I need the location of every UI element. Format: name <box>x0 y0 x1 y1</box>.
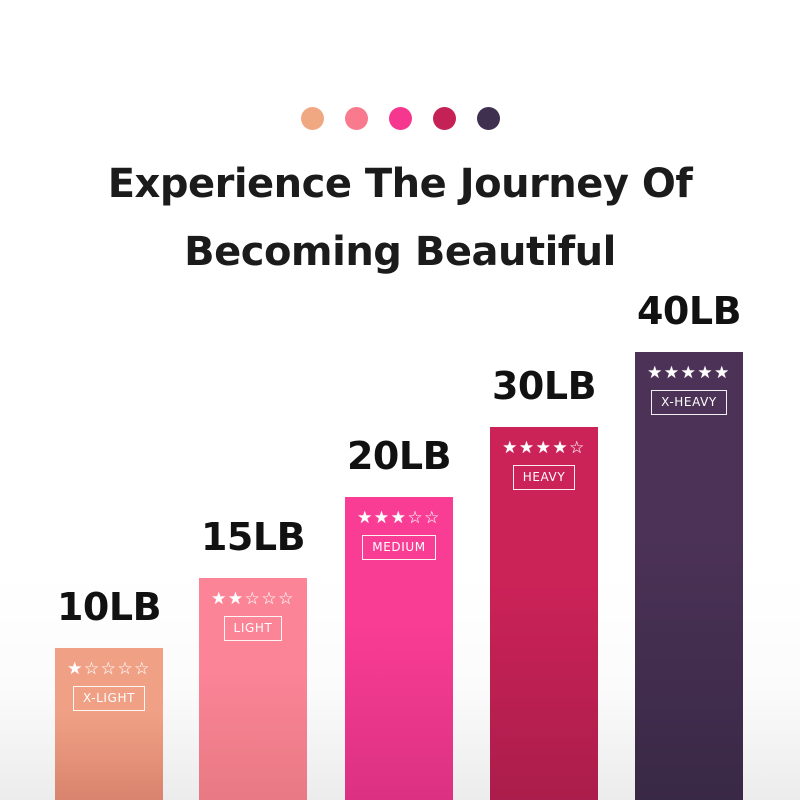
level-badge-15lb: LIGHT <box>224 616 283 641</box>
level-badge-10lb: X-LIGHT <box>73 686 145 711</box>
bar-20lb[interactable]: ★★★☆☆MEDIUM <box>345 497 453 800</box>
level-badge-20lb: MEDIUM <box>362 535 435 560</box>
bar-annotation-40lb: ★★★★★X-HEAVY <box>635 364 743 415</box>
bar-annotation-20lb: ★★★☆☆MEDIUM <box>345 509 453 560</box>
star-rating-icon-40lb: ★★★★★ <box>647 364 731 383</box>
bar-value-label-30lb: 30LB <box>492 367 596 405</box>
bar-40lb[interactable]: ★★★★★X-HEAVY <box>635 352 743 800</box>
star-rating-icon-30lb: ★★★★☆ <box>502 439 586 458</box>
bar-annotation-10lb: ★☆☆☆☆X-LIGHT <box>55 660 163 711</box>
bar-value-label-40lb: 40LB <box>637 292 741 330</box>
bar-group-40lb: 40LB★★★★★X-HEAVY <box>635 292 743 800</box>
bar-30lb[interactable]: ★★★★☆HEAVY <box>490 427 598 800</box>
bar-group-15lb: 15LB★★☆☆☆LIGHT <box>199 518 307 800</box>
bar-group-10lb: 10LB★☆☆☆☆X-LIGHT <box>55 588 163 800</box>
bar-group-20lb: 20LB★★★☆☆MEDIUM <box>345 437 453 800</box>
bar-15lb[interactable]: ★★☆☆☆LIGHT <box>199 578 307 800</box>
level-badge-30lb: HEAVY <box>513 465 576 490</box>
star-rating-icon-15lb: ★★☆☆☆ <box>211 590 295 609</box>
star-rating-icon-20lb: ★★★☆☆ <box>357 509 441 528</box>
bar-annotation-15lb: ★★☆☆☆LIGHT <box>199 590 307 641</box>
bar-value-label-15lb: 15LB <box>201 518 305 556</box>
bar-value-label-10lb: 10LB <box>57 588 161 626</box>
bar-10lb[interactable]: ★☆☆☆☆X-LIGHT <box>55 648 163 800</box>
bar-group-30lb: 30LB★★★★☆HEAVY <box>490 367 598 800</box>
resistance-band-bar-chart: 10LB★☆☆☆☆X-LIGHT15LB★★☆☆☆LIGHT20LB★★★☆☆M… <box>0 0 800 800</box>
level-badge-40lb: X-HEAVY <box>651 390 727 415</box>
bar-value-label-20lb: 20LB <box>347 437 451 475</box>
star-rating-icon-10lb: ★☆☆☆☆ <box>67 660 151 679</box>
bar-annotation-30lb: ★★★★☆HEAVY <box>490 439 598 490</box>
